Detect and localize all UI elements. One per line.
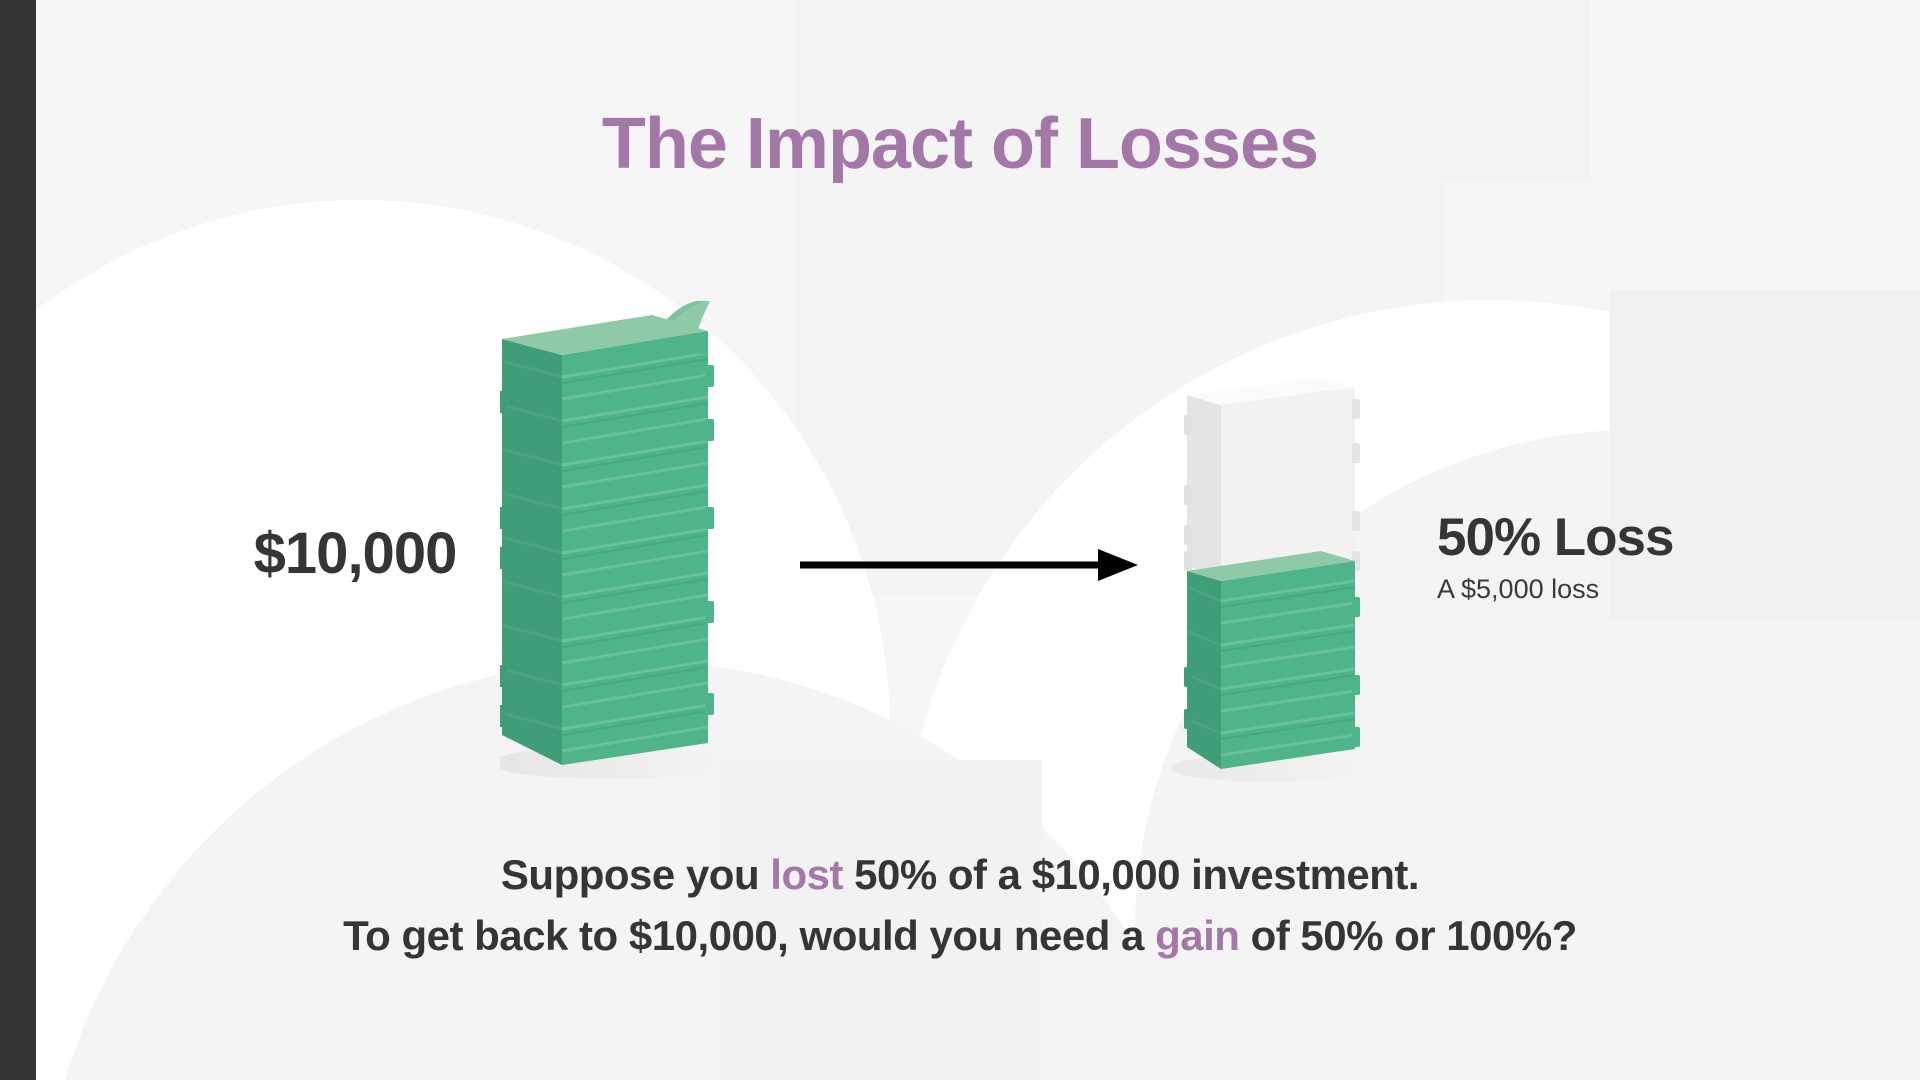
loss-percentage-label: 50% Loss <box>1437 510 1674 566</box>
slide-root: The Impact of Losses $10,000 <box>0 0 1920 1080</box>
loss-amount-label: A $5,000 loss <box>1437 574 1674 605</box>
caption-line1-part1: Suppose you <box>501 851 770 898</box>
money-stack-half-icon <box>1163 375 1393 795</box>
arrow-right-icon <box>800 545 1140 585</box>
page-title: The Impact of Losses <box>0 108 1920 180</box>
caption-line1-part2: 50% of a $10,000 investment. <box>843 851 1419 898</box>
caption-line1-highlight: lost <box>770 851 843 898</box>
caption-line-1: Suppose you lost 50% of a $10,000 invest… <box>0 845 1920 906</box>
caption-line2-highlight: gain <box>1155 912 1239 959</box>
caption-line-2: To get back to $10,000, would you need a… <box>0 906 1920 967</box>
caption-block: Suppose you lost 50% of a $10,000 invest… <box>0 845 1920 967</box>
left-accent-bar <box>0 0 36 1080</box>
caption-line2-part2: of 50% or 100%? <box>1239 912 1576 959</box>
ghost-lost-volume <box>1184 377 1360 575</box>
left-stack-amount-label: $10,000 <box>190 520 520 587</box>
money-stack-full-icon <box>500 295 770 795</box>
right-stack-labels: 50% Loss A $5,000 loss <box>1437 510 1674 605</box>
caption-line2-part1: To get back to $10,000, would you need a <box>343 912 1155 959</box>
